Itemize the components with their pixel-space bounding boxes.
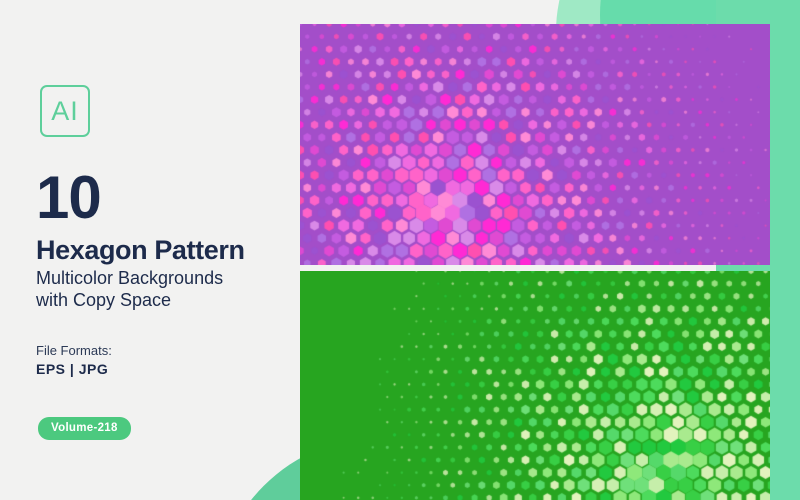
page-title: Hexagon Pattern [36, 236, 245, 264]
poster-canvas: AI 10 Hexagon Pattern Multicolor Backgro… [0, 0, 800, 500]
purple-hexagon-preview [300, 24, 770, 265]
volume-badge: Volume-218 [38, 417, 131, 440]
green-hexagon-preview [300, 271, 770, 500]
green-hexagon-canvas [300, 271, 770, 500]
ai-logo-label: AI [51, 98, 79, 125]
info-column: AI 10 Hexagon Pattern Multicolor Backgro… [0, 0, 300, 500]
file-formats-label: File Formats: [36, 343, 112, 358]
page-subtitle: Multicolor Backgroundswith Copy Space [36, 268, 286, 312]
purple-hexagon-canvas [300, 24, 770, 265]
file-formats-value: EPS | JPG [36, 361, 108, 377]
adobe-illustrator-logo: AI [40, 85, 90, 137]
pattern-count: 10 [36, 168, 101, 228]
